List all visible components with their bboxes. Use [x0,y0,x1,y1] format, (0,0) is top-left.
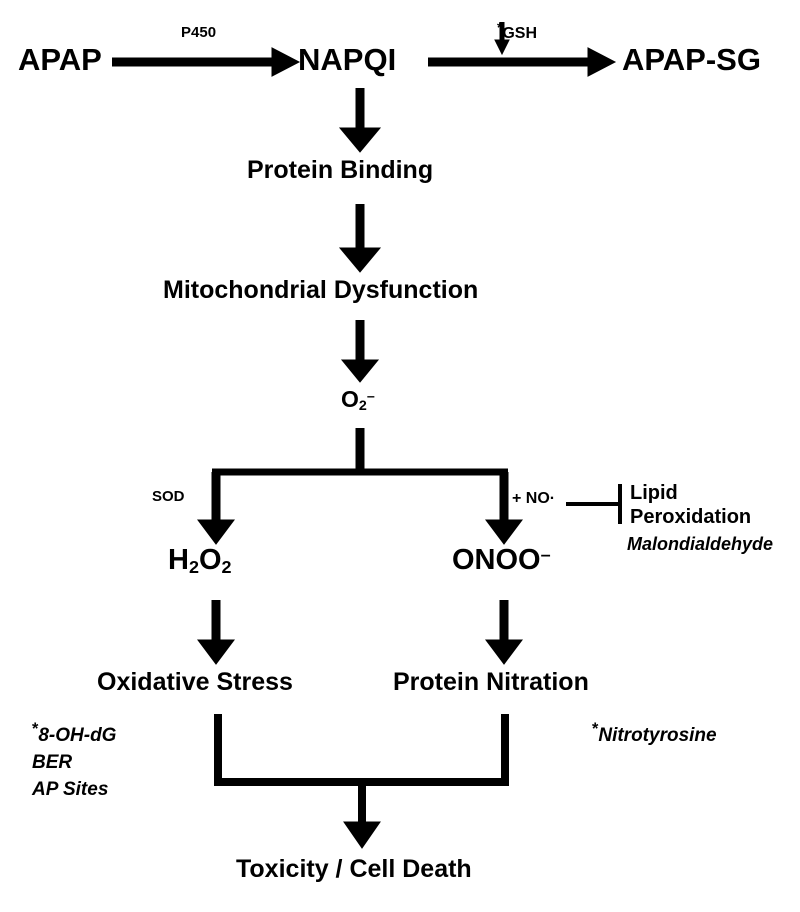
arrow-mito-to-superoxide [342,320,378,382]
lipid-peroxidation-line-1: Lipid [630,482,751,506]
node-hydrogen-peroxide: H2O2 [168,545,232,577]
edge-label-nitric-oxide: + NO· [512,490,555,508]
arrow-onoo-to-protein-nitration [486,600,522,664]
marker-ap-sites: AP Sites [32,777,116,804]
marker-8-oh-dg-text: 8-OH-dG [38,725,116,746]
node-napqi: NAPQI [298,44,396,77]
node-lipid-peroxidation: Lipid Peroxidation [630,482,751,529]
edge-label-p450: P450 [181,24,216,41]
node-mitochondrial-dysfunction: Mitochondrial Dysfunction [163,277,478,303]
edge-label-sod: SOD [152,488,185,505]
h2o2-subscript-1: 2 [189,557,199,577]
h2o2-o: O [199,544,222,576]
inhibition-connector-lipid-peroxidation [566,484,620,524]
node-superoxide: O2– [341,387,375,414]
peroxynitrite-base: ONOO [452,544,541,576]
node-protein-binding: Protein Binding [247,157,433,183]
superoxide-base: O [341,386,359,412]
arrow-napqi-to-protein-binding [340,88,380,152]
superoxide-charge: – [367,388,375,404]
arrow-protein-binding-to-mito [340,204,380,272]
node-apap: APAP [18,44,102,77]
marker-nitrotyrosine-text: Nitrotyrosine [598,725,716,746]
marker-8-oh-dg: *8-OH-dG [32,718,116,750]
node-protein-nitration: Protein Nitration [393,669,589,695]
peroxynitrite-charge: – [541,545,551,565]
node-apap-sg: APAP-SG [622,44,761,77]
marker-malondialdehyde: Malondialdehyde [627,534,773,555]
gsh-label-text: GSH [502,25,537,42]
h2o2-subscript-2: 2 [222,557,232,577]
node-toxicity-cell-death: Toxicity / Cell Death [236,856,472,882]
marker-nitrotyrosine: *Nitrotyrosine [592,718,717,750]
marker-list-protein-nitration: *Nitrotyrosine [592,718,717,750]
merge-junction-toxicity [214,714,509,848]
arrow-napqi-to-apapsg [428,48,615,76]
arrow-apap-to-napqi [112,48,299,76]
branch-split-superoxide [198,428,522,544]
node-oxidative-stress: Oxidative Stress [97,669,293,695]
lipid-peroxidation-line-2: Peroxidation [630,506,751,530]
h2o2-h: H [168,544,189,576]
arrow-h2o2-to-oxidative-stress [198,600,234,664]
marker-list-oxidative-stress: *8-OH-dG BER AP Sites [32,718,116,804]
marker-ber: BER [32,750,116,777]
edge-label-gsh: *GSH [497,20,537,43]
node-peroxynitrite: ONOO– [452,545,551,575]
pathway-diagram: APAP NAPQI APAP-SG Protein Binding Mitoc… [0,0,800,912]
superoxide-subscript: 2 [359,398,367,414]
connector-layer [0,0,800,912]
